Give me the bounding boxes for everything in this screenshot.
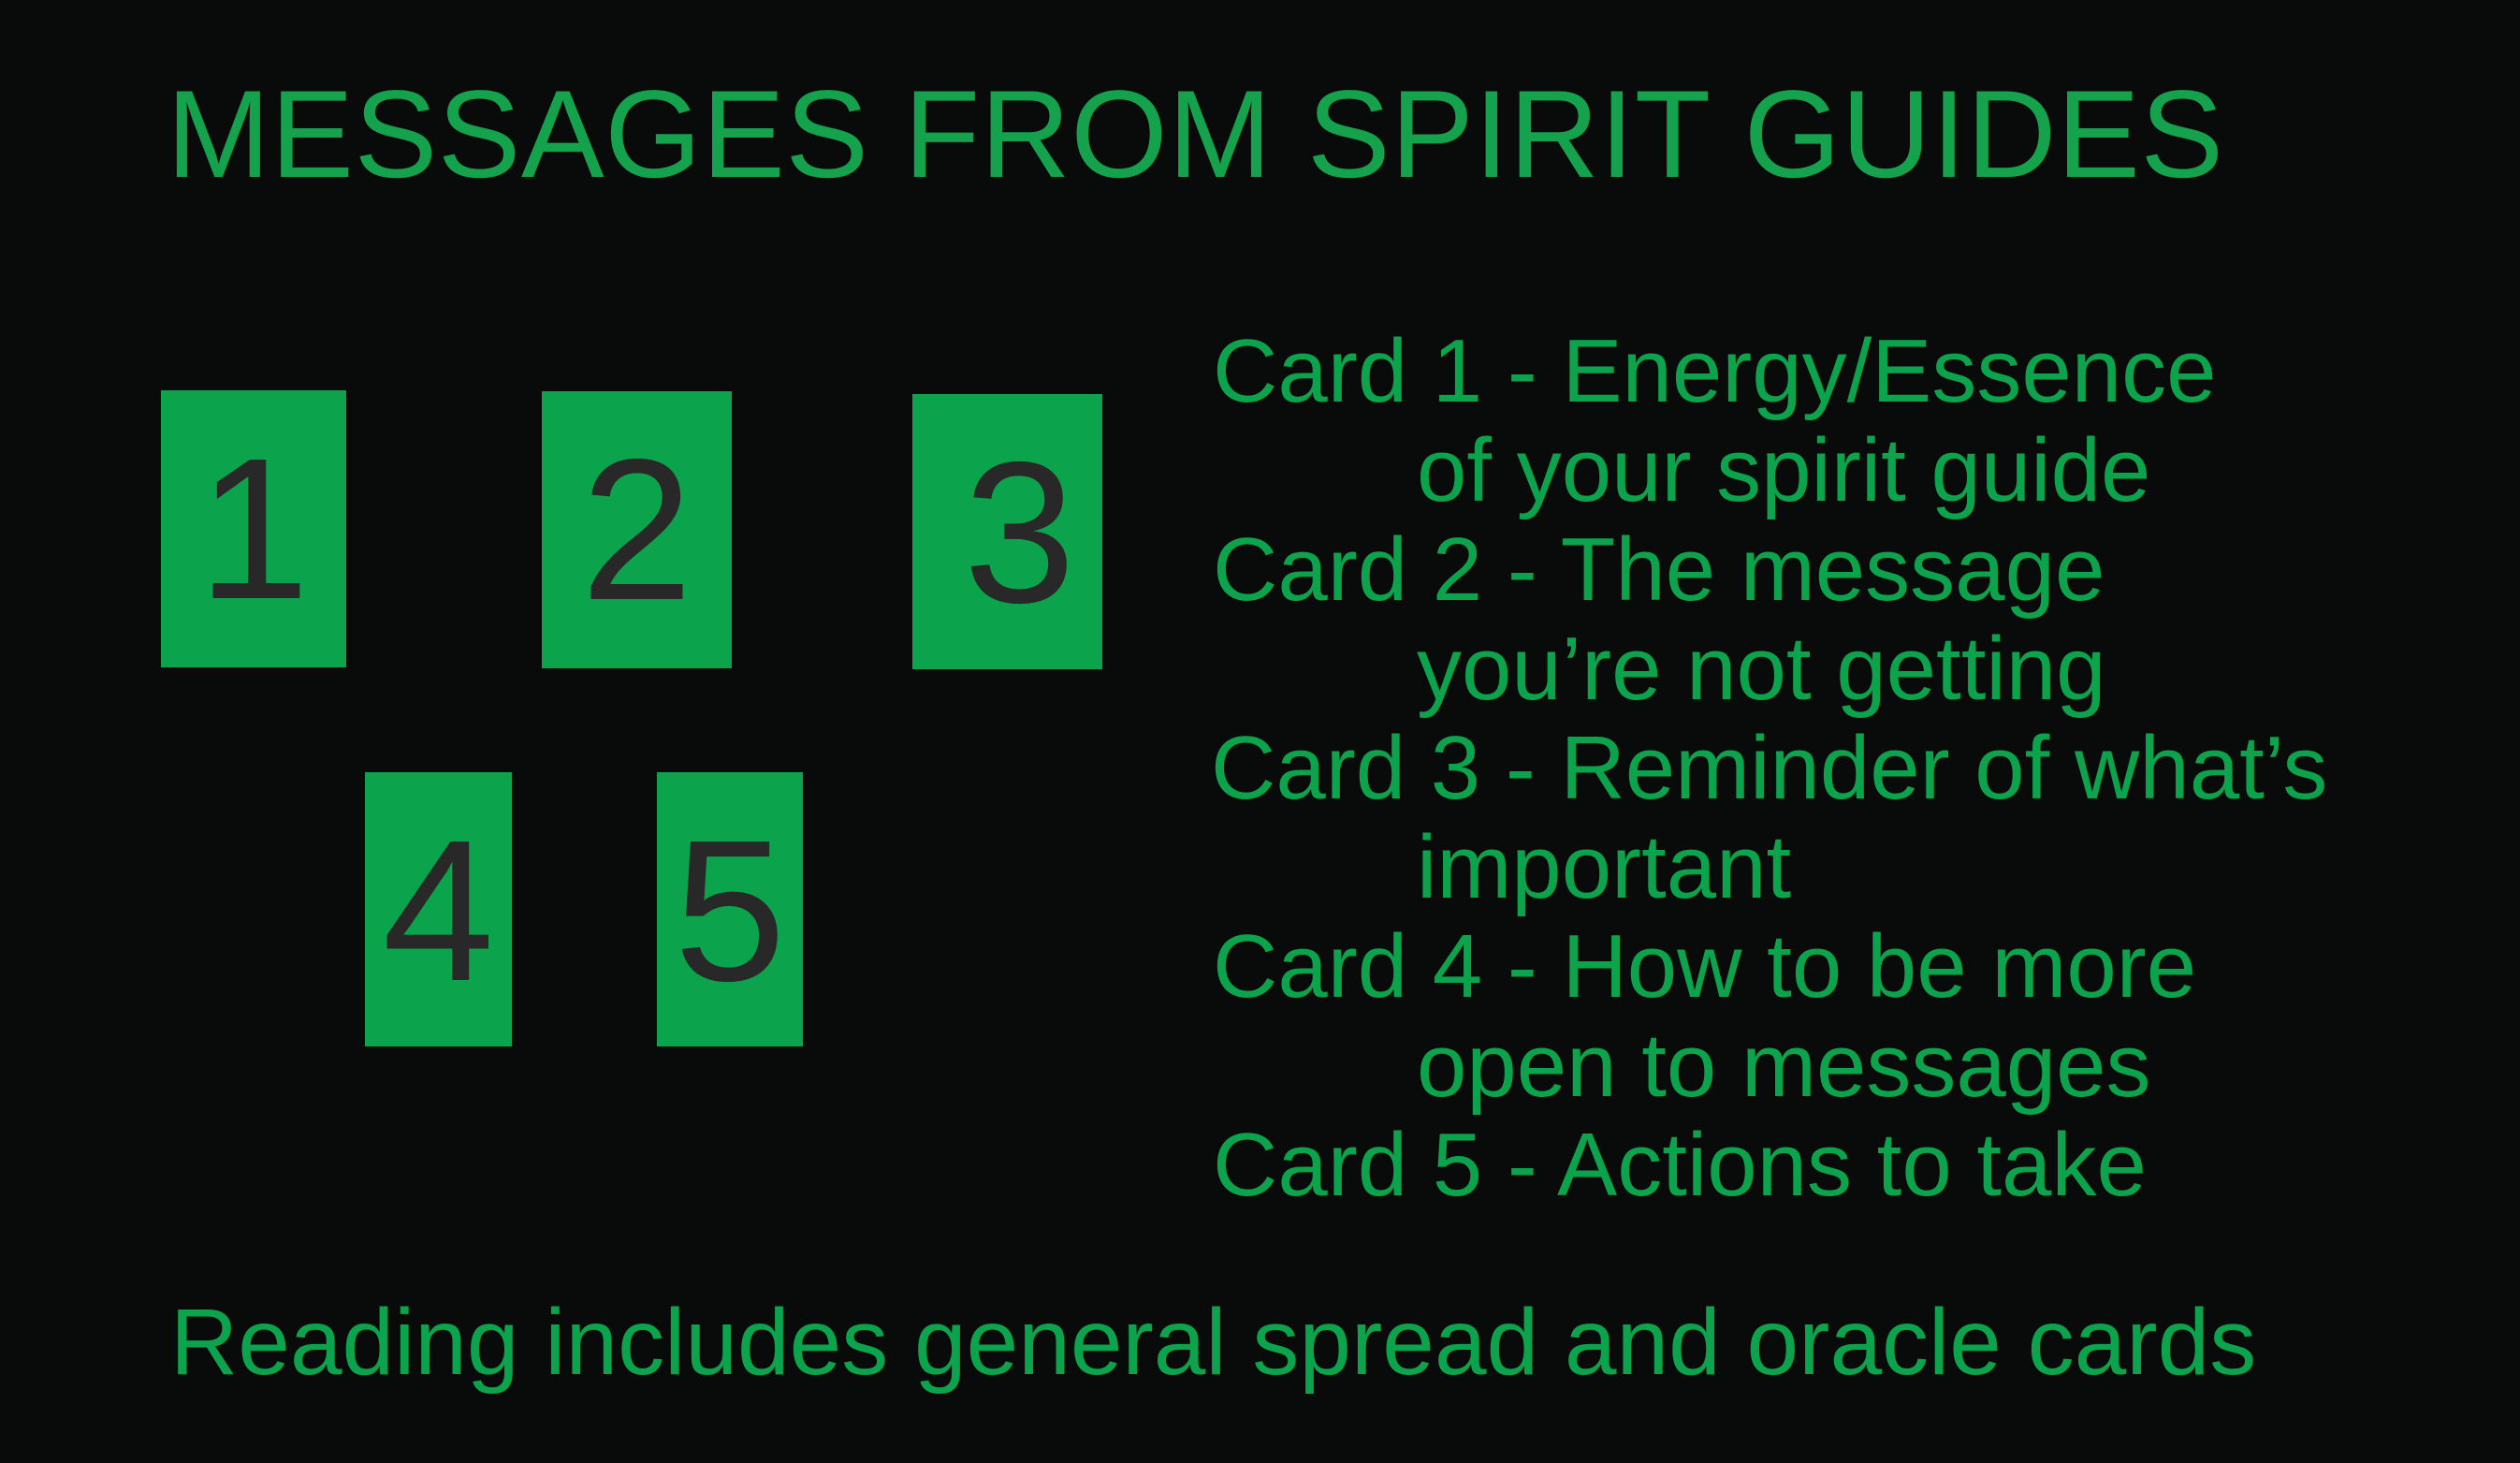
card-number-4: 4 (365, 810, 512, 1011)
card-meaning-4-line-2: open to messages (1213, 1017, 2448, 1116)
card-meaning-1-line-1: Card 1 - Energy/Essence (1213, 322, 2448, 421)
card-meanings-list: Card 1 - Energy/Essence of your spirit g… (1213, 322, 2448, 1215)
card-number-2: 2 (542, 429, 732, 630)
tarot-spread-graphic: MESSAGES FROM SPIRIT GUIDES 1 2 3 4 5 Ca… (0, 0, 2520, 1463)
card-meaning-2: Card 2 - The message you’re not getting (1213, 520, 2448, 719)
card-meaning-5-text: Actions to take (1557, 1115, 2147, 1215)
card-meaning-3-text: Reminder of what’s (1560, 718, 2327, 818)
spread-card-5[interactable]: 5 (657, 772, 803, 1046)
card-meaning-3-line-2: important (1213, 818, 2448, 917)
spread-card-1[interactable]: 1 (161, 390, 346, 667)
card-spread-diagram: 1 2 3 4 5 (0, 0, 1170, 1170)
card-meaning-2-text: The message (1561, 519, 2105, 620)
card-meaning-4-label: Card 4 - (1213, 916, 1562, 1017)
card-meaning-5-label: Card 5 - (1213, 1115, 1557, 1215)
card-meaning-1: Card 1 - Energy/Essence of your spirit g… (1213, 322, 2448, 520)
card-meaning-3-line-1: Card 3 - Reminder of what’s (1211, 719, 2448, 818)
card-meaning-5-line-1: Card 5 - Actions to take (1213, 1116, 2448, 1215)
card-meaning-1-line-2: of your spirit guide (1213, 421, 2448, 520)
card-meaning-3-label: Card 3 - (1211, 718, 1560, 818)
spread-card-4[interactable]: 4 (365, 772, 512, 1046)
card-number-5: 5 (657, 810, 803, 1011)
card-meaning-3: Card 3 - Reminder of what’s important (1213, 719, 2448, 917)
card-meaning-4-line-1: Card 4 - How to be more (1213, 917, 2448, 1017)
card-meaning-4: Card 4 - How to be more open to messages (1213, 917, 2448, 1116)
reading-note: Reading includes general spread and orac… (170, 1295, 2256, 1389)
card-number-1: 1 (161, 428, 346, 629)
card-meaning-1-label: Card 1 - (1213, 321, 1562, 421)
card-meaning-2-line-1: Card 2 - The message (1213, 520, 2448, 620)
spread-card-3[interactable]: 3 (912, 394, 1102, 669)
card-meaning-1-text: Energy/Essence (1562, 321, 2216, 421)
card-meaning-5: Card 5 - Actions to take (1213, 1116, 2448, 1215)
spread-card-2[interactable]: 2 (542, 391, 732, 668)
card-meaning-2-line-2: you’re not getting (1213, 620, 2448, 719)
card-meaning-4-text: How to be more (1562, 916, 2196, 1017)
card-meaning-2-label: Card 2 - (1213, 519, 1561, 620)
card-number-3: 3 (937, 432, 1102, 633)
